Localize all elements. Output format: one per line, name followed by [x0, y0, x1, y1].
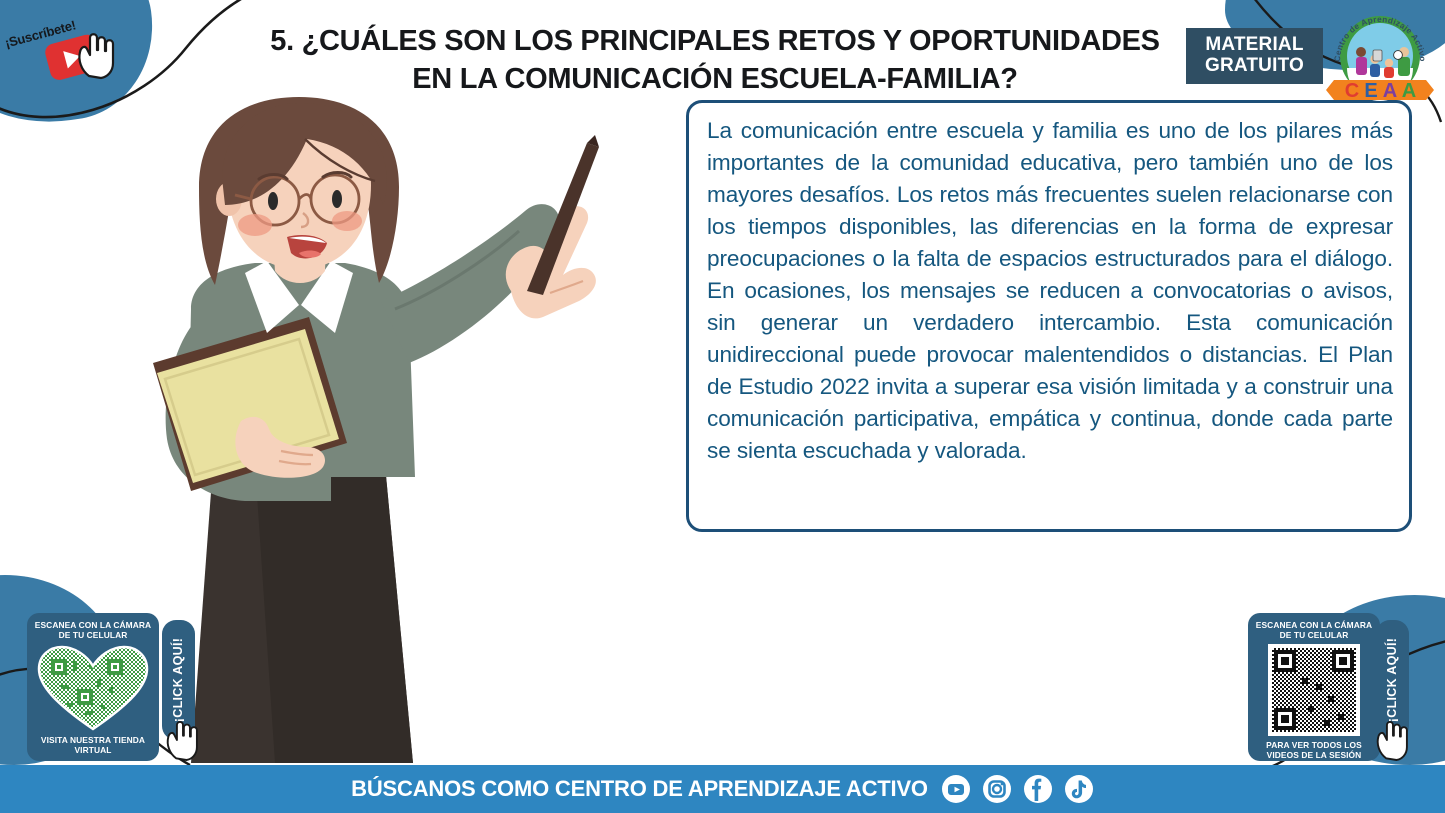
ceaa-logo: Centro de Aprendizaje Activo C E A A: [1326, 6, 1434, 106]
qr-panel-videos[interactable]: ESCANEA CON LA CÁMARA DE TU CELULAR: [1248, 613, 1380, 761]
qr-code-square[interactable]: [1268, 644, 1360, 736]
svg-text:C: C: [1345, 80, 1359, 102]
svg-text:E: E: [1364, 80, 1377, 102]
title-line-2: EN LA COMUNICACIÓN ESCUELA-FAMILIA?: [245, 60, 1185, 98]
qr-caption-top-left: ESCANEA CON LA CÁMARA DE TU CELULAR: [33, 620, 153, 640]
pointing-hand-cursor-icon: [1373, 718, 1413, 762]
title-line-1: 5. ¿CUÁLES SON LOS PRINCIPALES RETOS Y O…: [245, 22, 1185, 60]
pointing-hand-cursor-icon: [163, 718, 203, 762]
click-here-label-right: ¡CLICK AQUÍ!: [1386, 638, 1400, 722]
social-icons: [941, 774, 1094, 804]
svg-text:A: A: [1383, 80, 1397, 102]
youtube-icon[interactable]: [941, 774, 971, 804]
svg-text:A: A: [1402, 80, 1416, 102]
instagram-icon[interactable]: [982, 774, 1012, 804]
material-gratuito-badge: MATERIAL GRATUITO: [1186, 28, 1323, 84]
footer-label: BÚSCANOS COMO CENTRO DE APRENDIZAJE ACTI…: [351, 776, 928, 802]
slide-canvas: ¡Suscríbete! 5. ¿CUÁLES SON LOS PRINCIPA…: [0, 0, 1445, 813]
footer-bar: BÚSCANOS COMO CENTRO DE APRENDIZAJE ACTI…: [0, 765, 1445, 813]
material-badge-line-2: GRATUITO: [1205, 56, 1304, 77]
click-here-label-left: ¡CLICK AQUÍ!: [172, 638, 186, 722]
qr-caption-top-right: ESCANEA CON LA CÁMARA DE TU CELULAR: [1254, 620, 1374, 640]
qr-caption-bottom-left: VISITA NUESTRA TIENDA VIRTUAL: [33, 735, 153, 755]
qr-code-heart[interactable]: [37, 644, 149, 731]
tiktok-icon[interactable]: [1064, 774, 1094, 804]
facebook-icon[interactable]: [1023, 774, 1053, 804]
slide-title: 5. ¿CUÁLES SON LOS PRINCIPALES RETOS Y O…: [245, 22, 1185, 99]
body-paragraph: La comunicación entre escuela y familia …: [707, 115, 1393, 467]
pointing-hand-cursor-icon: [74, 30, 120, 80]
qr-caption-bottom-right: PARA VER TODOS LOS VIDEOS DE LA SESIÓN: [1254, 740, 1374, 760]
content-card: La comunicación entre escuela y familia …: [686, 100, 1412, 532]
qr-panel-store[interactable]: ESCANEA CON LA CÁMARA DE TU CELULAR: [27, 613, 159, 761]
material-badge-line-1: MATERIAL: [1205, 35, 1303, 56]
